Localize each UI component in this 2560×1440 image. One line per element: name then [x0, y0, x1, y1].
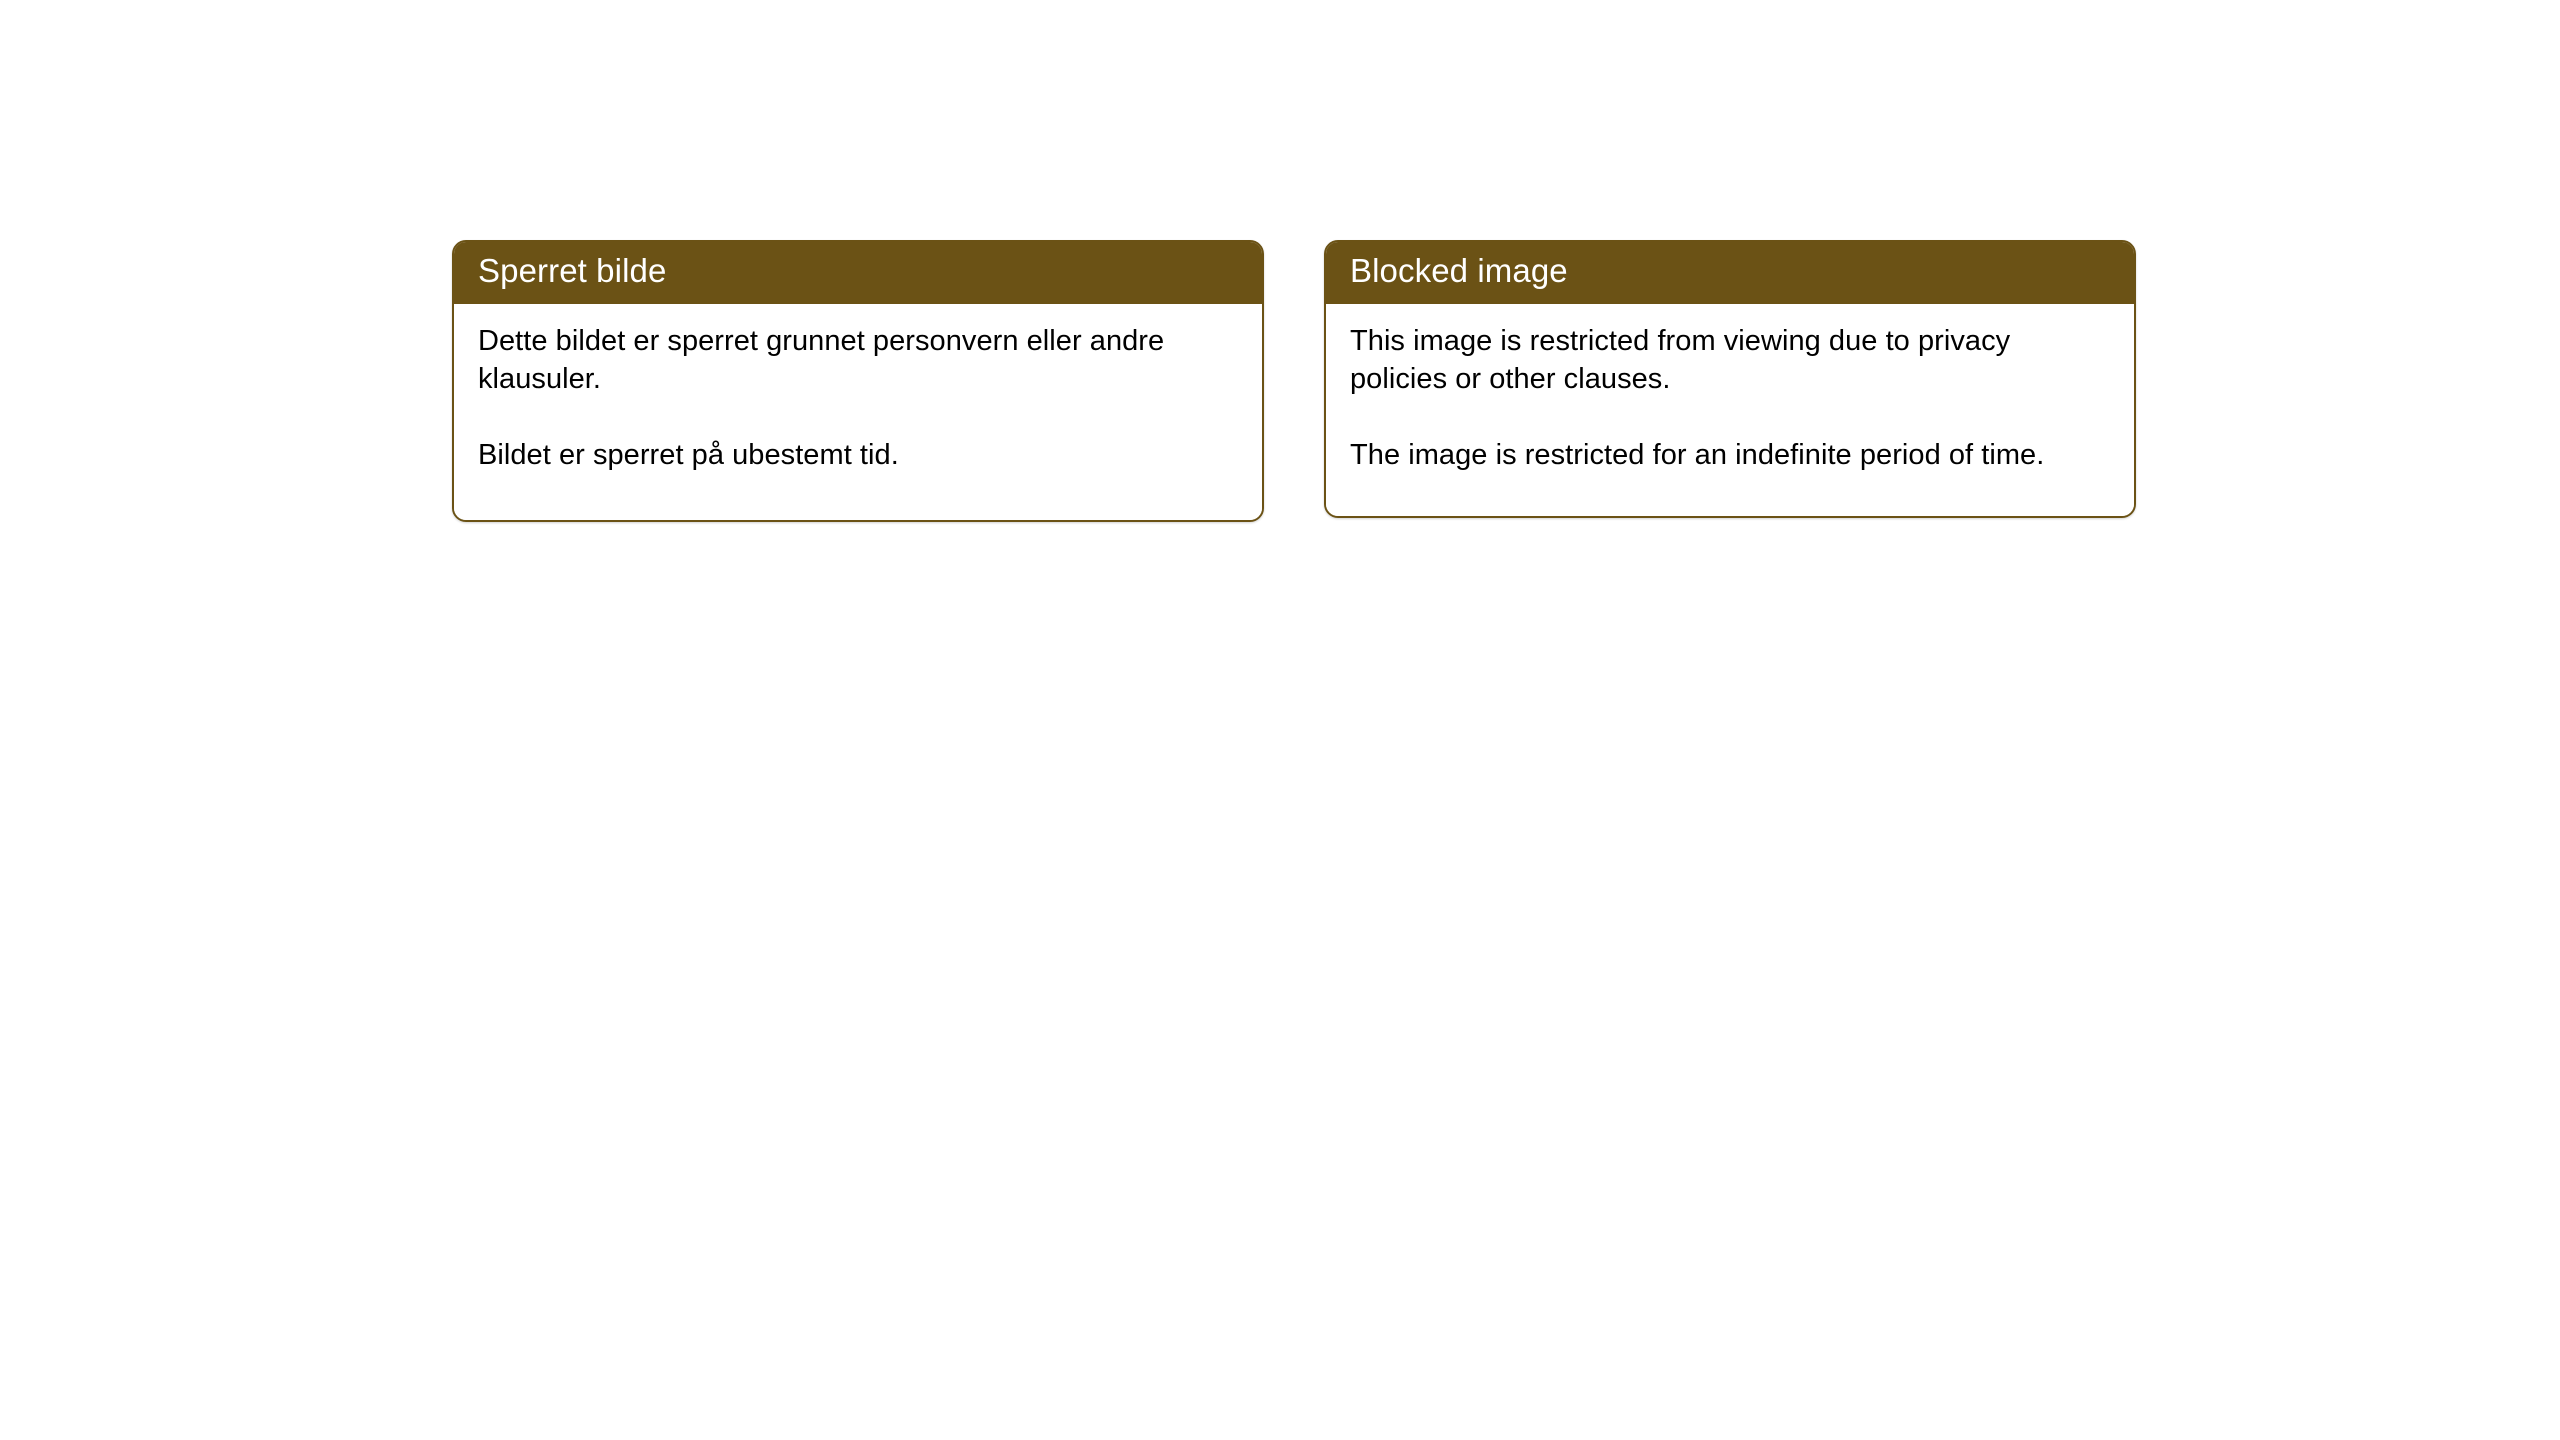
- card-body-english: This image is restricted from viewing du…: [1326, 304, 2134, 516]
- card-paragraph-duration-norwegian: Bildet er sperret på ubestemt tid.: [478, 436, 1238, 474]
- card-body-norwegian: Dette bildet er sperret grunnet personve…: [454, 304, 1262, 520]
- blocked-image-notice-area: Sperret bilde Dette bildet er sperret gr…: [452, 240, 2136, 522]
- card-paragraph-reason-norwegian: Dette bildet er sperret grunnet personve…: [478, 322, 1238, 398]
- card-title-english: Blocked image: [1350, 250, 2110, 292]
- card-paragraph-duration-english: The image is restricted for an indefinit…: [1350, 436, 2110, 474]
- card-header-english: Blocked image: [1326, 242, 2134, 304]
- blocked-image-card-norwegian: Sperret bilde Dette bildet er sperret gr…: [452, 240, 1264, 522]
- blocked-image-card-english: Blocked image This image is restricted f…: [1324, 240, 2136, 518]
- card-paragraph-reason-english: This image is restricted from viewing du…: [1350, 322, 2110, 398]
- card-header-norwegian: Sperret bilde: [454, 242, 1262, 304]
- card-title-norwegian: Sperret bilde: [478, 250, 1238, 292]
